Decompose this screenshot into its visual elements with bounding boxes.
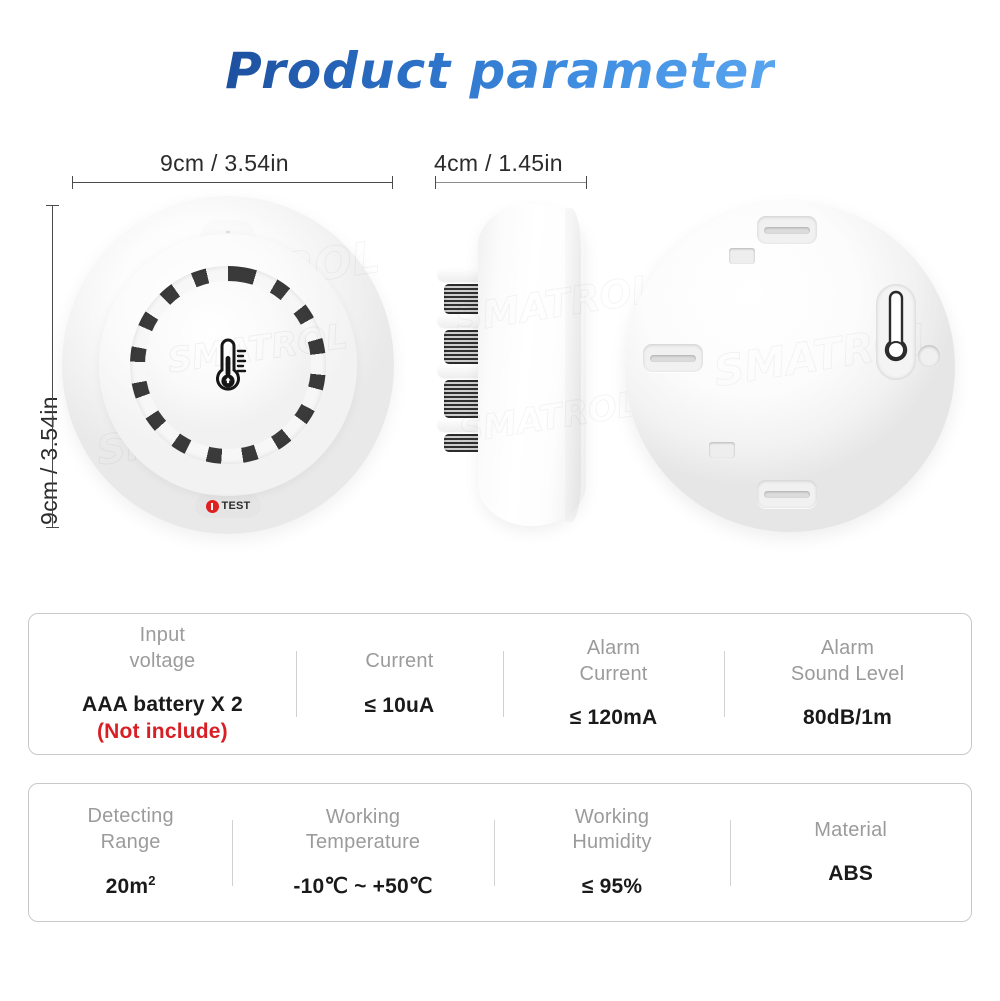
front-rim: SMATROL xyxy=(99,234,357,496)
product-front-view: SMATROL SMATROL SMATROL xyxy=(62,196,394,534)
spec-label: Working Humidity xyxy=(572,805,651,856)
front-disc: SMATROL xyxy=(145,281,311,449)
thermometer-icon xyxy=(209,338,249,399)
brand-watermark: SMATROL xyxy=(456,384,641,452)
mount-slot-left xyxy=(643,344,703,372)
mount-slot-top xyxy=(757,216,817,244)
spec-value: ≤ 120mA xyxy=(570,705,658,731)
mount-slot-bottom xyxy=(757,480,817,508)
spec-label: Alarm Sound Level xyxy=(791,636,904,687)
spec-cell-current: Current ≤ 10uA xyxy=(296,614,503,754)
spec-value: ≤ 95% xyxy=(582,874,642,900)
spec-value: ABS xyxy=(828,861,873,887)
test-button[interactable]: TEST xyxy=(195,494,261,518)
spec-note: (Not include) xyxy=(82,719,243,745)
brand-watermark: SMATROL xyxy=(165,317,350,382)
product-side-view: SMATROL SMATROL xyxy=(478,204,586,526)
test-button-label: TEST xyxy=(222,500,251,512)
back-thermometer-recess xyxy=(876,284,916,380)
product-images: SMATROL SMATROL SMATROL xyxy=(0,0,1000,600)
spec-cell-working-humidity: Working Humidity ≤ 95% xyxy=(494,784,731,921)
spec-cell-material: Material ABS xyxy=(730,784,971,921)
mount-hole-right xyxy=(918,345,940,367)
brand-watermark: SMATROL xyxy=(452,266,659,341)
latch-tab-top xyxy=(729,248,755,264)
vent-ring: SMATROL xyxy=(130,266,326,464)
spec-value: 20m2 xyxy=(106,873,156,900)
spec-label: Material xyxy=(814,818,887,844)
spec-value: AAA battery X 2 (Not include) xyxy=(82,692,243,745)
spec-table-row-2: Detecting Range 20m2 Working Temperature… xyxy=(28,783,972,922)
spec-cell-working-temperature: Working Temperature -10℃ ~ +50℃ xyxy=(232,784,493,921)
spec-cell-alarm-current: Alarm Current ≤ 120mA xyxy=(503,614,724,754)
spec-value: -10℃ ~ +50℃ xyxy=(293,874,432,900)
spec-value: ≤ 10uA xyxy=(364,693,434,719)
spec-cell-alarm-sound-level: Alarm Sound Level 80dB/1m xyxy=(724,614,971,754)
latch-tab-bottom xyxy=(709,442,735,458)
spec-label: Detecting Range xyxy=(87,804,173,855)
spec-cell-detecting-range: Detecting Range 20m2 xyxy=(29,784,232,921)
spec-value: 80dB/1m xyxy=(803,705,892,731)
side-edge xyxy=(565,208,581,522)
spec-cell-input-voltage: Input voltage AAA battery X 2 (Not inclu… xyxy=(29,614,296,754)
spec-label: Input voltage xyxy=(129,623,195,674)
spec-label: Working Temperature xyxy=(306,805,420,856)
power-icon xyxy=(206,500,219,513)
spec-label: Current xyxy=(365,649,433,675)
spec-label: Alarm Current xyxy=(579,636,647,687)
spec-value-superscript: 2 xyxy=(148,873,155,888)
spec-table-row-1: Input voltage AAA battery X 2 (Not inclu… xyxy=(28,613,972,755)
